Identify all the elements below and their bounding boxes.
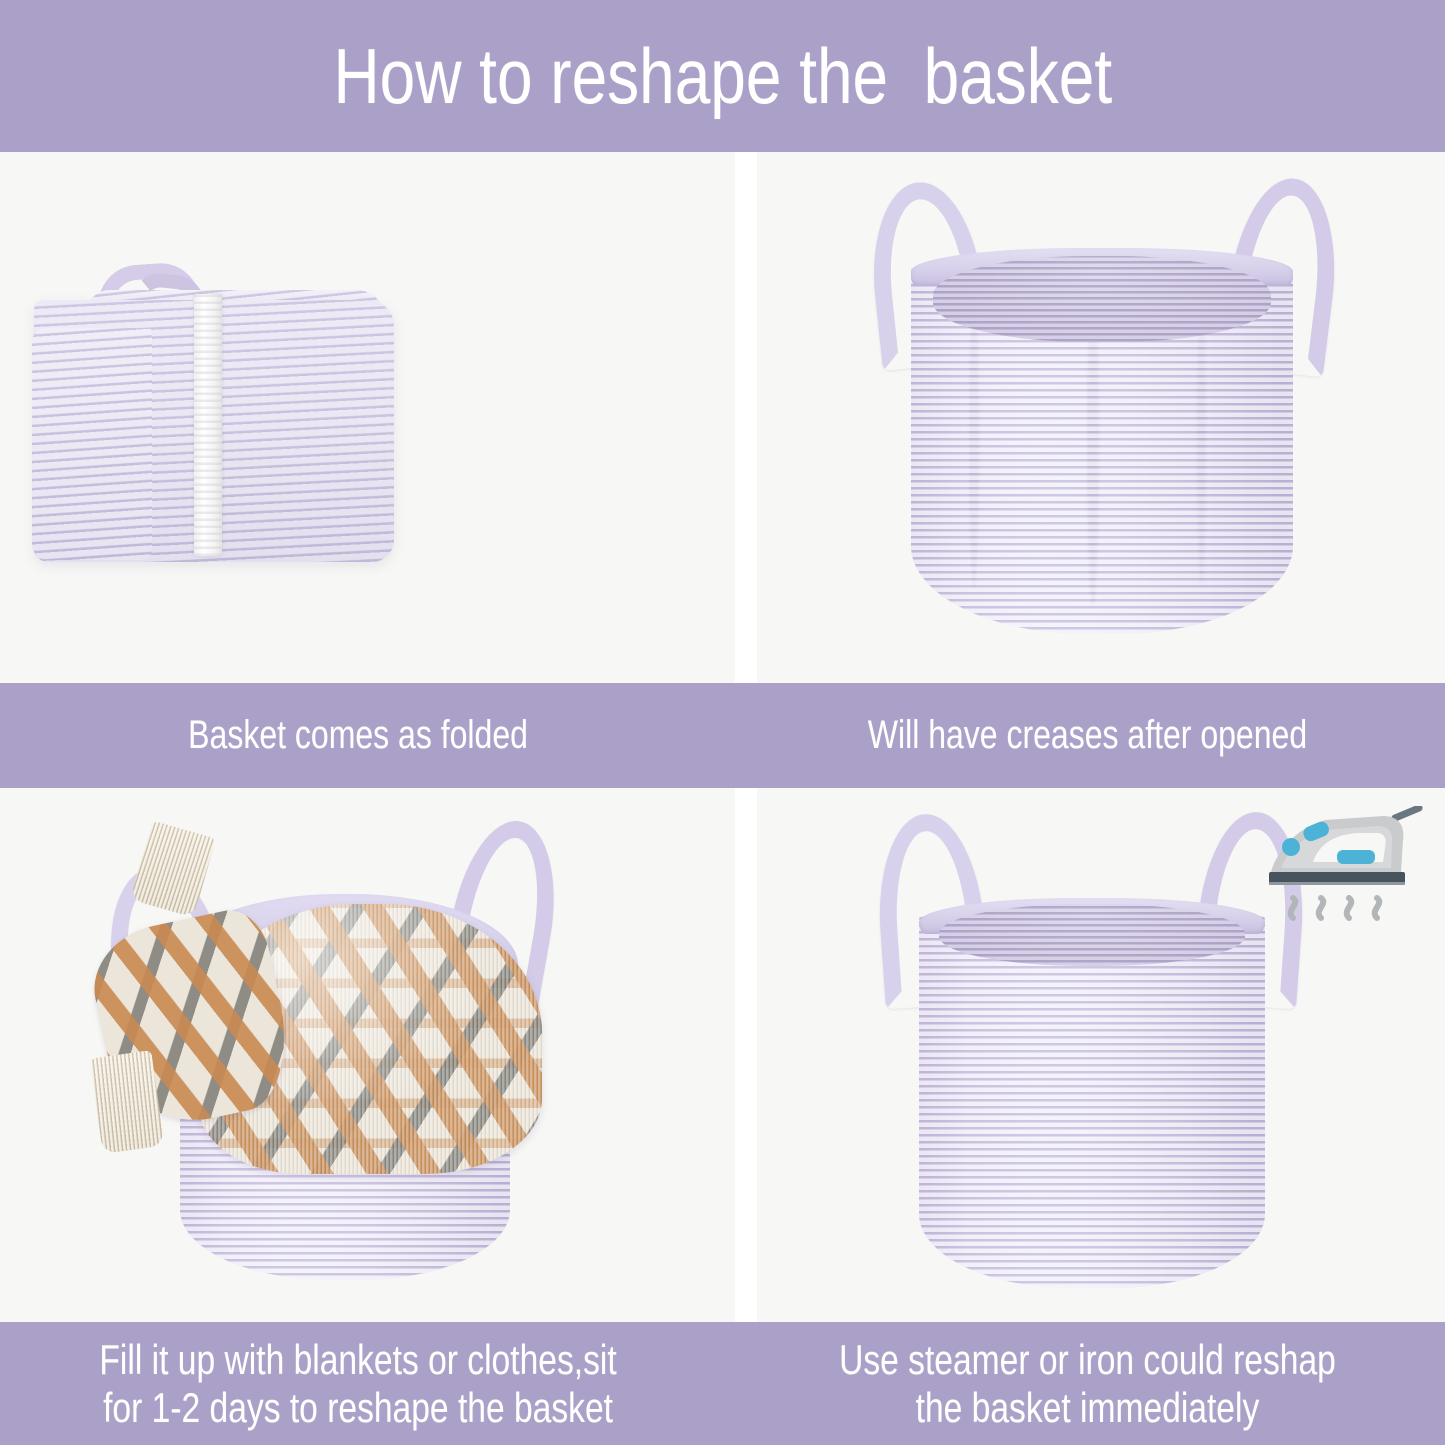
- header-band: How to reshape the basket: [0, 0, 1445, 152]
- steam-wisp: [1347, 898, 1352, 918]
- bottom-caption-band: Fill it up with blankets or clothes,sit …: [0, 1322, 1445, 1445]
- steam-wisp: [1291, 898, 1296, 918]
- creased-basket-photo: [867, 170, 1337, 670]
- folded-basket-side-flap: [32, 328, 152, 560]
- folded-basket-white-strap: [194, 294, 222, 556]
- steam-wisp: [1375, 898, 1380, 918]
- basket-with-blanket-photo: [110, 810, 560, 1304]
- caption-fill-it-up-with-blankets: Fill it up with blankets or clothes,sit …: [72, 1336, 650, 1430]
- basket-interior: [939, 904, 1245, 966]
- caption-will-have-creases-after-opened: Will have creases after opened: [795, 714, 1373, 756]
- caption-use-steamer-or-iron: Use steamer or iron could reshap the bas…: [795, 1336, 1373, 1430]
- page-title: How to reshape the basket: [333, 37, 1112, 115]
- panel-basket-with-blanket: [0, 788, 735, 1322]
- panel-reshaped-basket: [757, 788, 1445, 1322]
- panel-creased-basket: [757, 152, 1445, 683]
- infographic-root: How to reshape the basket Basket c: [0, 0, 1445, 1445]
- steam-wisp: [1319, 898, 1324, 918]
- caption-basket-comes-as-folded: Basket comes as folded: [72, 714, 650, 756]
- mid-caption-band: Basket comes as folded Will have creases…: [0, 683, 1445, 788]
- reshaped-basket-photo: [877, 806, 1307, 1306]
- basket-interior: [933, 256, 1271, 342]
- steam-iron-icon: [1263, 806, 1423, 924]
- folded-basket-photo: [34, 262, 394, 562]
- basket-body: [919, 916, 1265, 1288]
- blanket-tassel: [90, 1050, 165, 1154]
- panel-folded-basket: [0, 152, 735, 683]
